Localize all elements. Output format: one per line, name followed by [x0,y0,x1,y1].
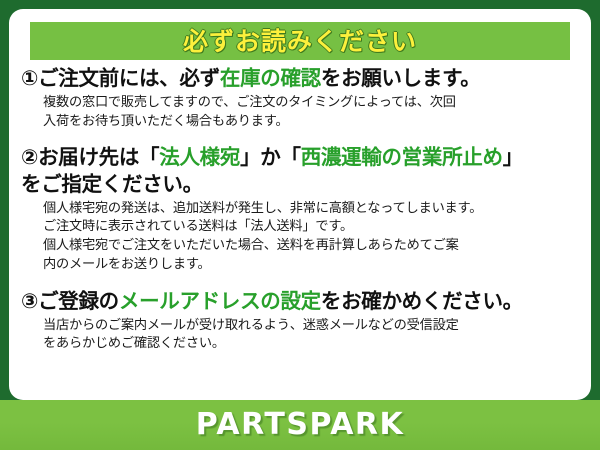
notice-title-bar: 必ずお読みください [30,22,570,60]
notice-item-1-heading-highlight: 在庫の確認 [220,66,321,90]
notice-item-3-heading: ③ご登録のメールアドレスの設定をお確かめください。 [21,288,581,315]
notice-item-3-heading-after: をお確かめください。 [321,289,523,313]
notice-item-1-number: ① [21,66,38,90]
notice-item-1-heading: ①ご注文前には、必ず在庫の確認をお願いします。 [21,65,581,92]
notice-item-2: ②お届け先は「法人様宛」か「西濃運輸の営業所止め」 をご指定ください。 個人様宅… [21,144,581,275]
notice-item-3-body: 当店からのご案内メールが受け取れるよう、迷惑メールなどの受信設定 をあらかじめご… [43,317,581,354]
notice-item-1-body: 複数の窓口で販売してますので、ご注文のタイミングによっては、次回 入荷をお待ち頂… [43,94,581,131]
notice-item-2-number: ② [21,145,38,169]
notice-item-3: ③ご登録のメールアドレスの設定をお確かめください。 当店からのご案内メールが受け… [21,288,581,355]
notice-banner: 必ずお読みください ①ご注文前には、必ず在庫の確認をお願いします。 複数の窓口で… [0,0,600,450]
notice-item-2-body: 個人様宅宛の発送は、追加送料が発生し、非常に高額となってしまいます。 ご注文時に… [43,200,581,275]
notice-item-2-heading-middle: 」か「 [240,145,301,169]
notice-item-3-number: ③ [21,289,38,313]
brand-name: PARTSPARK [196,410,405,440]
notice-item-2-heading: ②お届け先は「法人様宛」か「西濃運輸の営業所止め」 をご指定ください。 [21,144,581,198]
notice-item-2-heading-before: お届け先は「 [38,145,159,169]
notice-title: 必ずお読みください [183,29,417,54]
notice-item-1: ①ご注文前には、必ず在庫の確認をお願いします。 複数の窓口で販売してますので、ご… [21,65,581,132]
notice-item-1-heading-before: ご注文前には、必ず [38,66,220,90]
notice-item-3-heading-highlight: メールアドレスの設定 [119,289,321,313]
notice-item-2-heading-highlight: 法人様宛 [159,145,240,169]
notice-item-1-heading-after: をお願いします。 [321,66,481,90]
notice-panel: 必ずお読みください ①ご注文前には、必ず在庫の確認をお願いします。 複数の窓口で… [9,9,591,400]
notice-item-2-heading-highlight-2: 西濃運輸の営業所止め [301,145,503,169]
brand-footer: PARTSPARK [0,400,600,450]
notice-item-3-heading-before: ご登録の [38,289,119,313]
notice-content: ①ご注文前には、必ず在庫の確認をお願いします。 複数の窓口で販売してますので、ご… [9,65,591,358]
